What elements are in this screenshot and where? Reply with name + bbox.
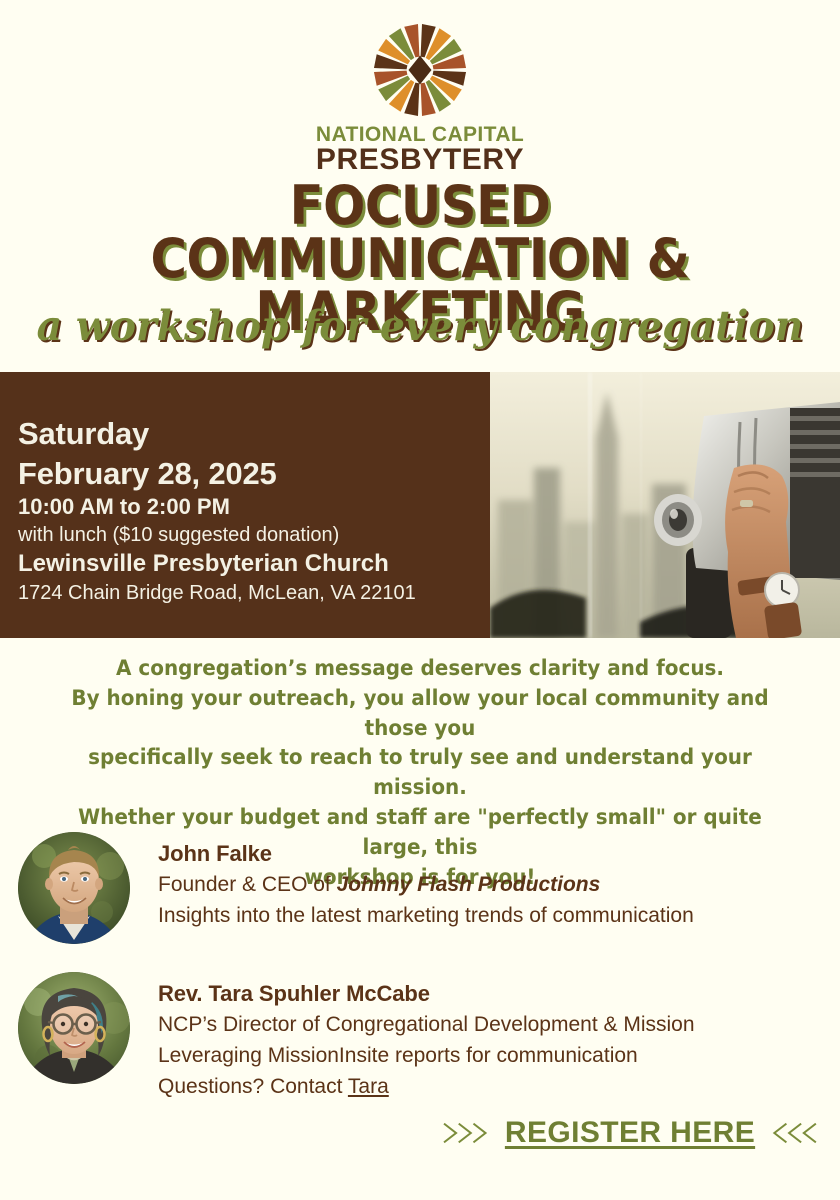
contact-tara-link[interactable]: Tara [348, 1075, 389, 1098]
avatar [18, 832, 130, 944]
speaker-role: Founder & CEO of Johnny Flash Production… [158, 869, 694, 900]
speaker-info: John Falke Founder & CEO of Johnny Flash… [158, 832, 694, 931]
flyer-page: NATIONAL CAPITAL PRESBYTERY FOCUSED COMM… [0, 0, 840, 1200]
speaker-contact-prefix: Questions? Contact [158, 1075, 348, 1098]
speaker-organization: Johnny Flash Productions [337, 873, 601, 896]
speaker-contact: Questions? Contact Tara [158, 1071, 695, 1102]
starburst-logo-icon [372, 22, 468, 118]
event-date: February 28, 2025 [18, 454, 490, 494]
description-line-1: A congregation’s message deserves clarit… [59, 654, 781, 684]
event-venue: Lewinsville Presbyterian Church [18, 548, 490, 579]
speaker-topic: Leveraging MissionInsite reports for com… [158, 1040, 695, 1071]
speaker-entry: Rev. Tara Spuhler McCabe NCP’s Director … [18, 972, 822, 1102]
description-line-3: specifically seek to reach to truly see … [59, 743, 781, 803]
page-title-line1: FOCUSED COMMUNICATION & [61, 180, 779, 286]
tower-viewer-photo [490, 372, 840, 638]
logo-wordmark-line2: PRESBYTERY [0, 145, 840, 176]
event-time: 10:00 AM to 2:00 PM [18, 493, 490, 522]
chevron-right-triple-icon [440, 1111, 491, 1155]
register-cta[interactable]: REGISTER HERE [440, 1102, 820, 1164]
event-address: 1724 Chain Bridge Road, McLean, VA 22101 [18, 580, 490, 606]
event-lunch-note: with lunch ($10 suggested donation) [18, 522, 490, 548]
event-day: Saturday [18, 414, 490, 454]
speaker-name: Rev. Tara Spuhler McCabe [158, 978, 695, 1009]
speaker-entry: John Falke Founder & CEO of Johnny Flash… [18, 832, 822, 944]
speaker-topic: Insights into the latest marketing trend… [158, 900, 694, 931]
event-details-panel: Saturday February 28, 2025 10:00 AM to 2… [0, 372, 490, 638]
avatar [18, 972, 130, 1084]
page-subtitle: a workshop for every congregation [36, 306, 804, 347]
tower-viewer-photo-illustration [490, 372, 840, 638]
speaker-one-portrait [18, 832, 130, 944]
register-here-link[interactable]: REGISTER HERE [505, 1116, 755, 1150]
speaker-info: Rev. Tara Spuhler McCabe NCP’s Director … [158, 972, 695, 1102]
speaker-role: NCP’s Director of Congregational Develop… [158, 1009, 695, 1040]
event-details-band: Saturday February 28, 2025 10:00 AM to 2… [0, 372, 840, 638]
speaker-name: John Falke [158, 838, 694, 869]
logo-wordmark-line1: NATIONAL CAPITAL [0, 124, 840, 145]
chevron-left-triple-icon [769, 1111, 820, 1155]
speaker-two-portrait [18, 972, 130, 1084]
speaker-role-prefix: Founder & CEO of [158, 873, 337, 896]
organization-logo: NATIONAL CAPITAL PRESBYTERY [0, 22, 840, 176]
description-line-2: By honing your outreach, you allow your … [59, 684, 781, 744]
